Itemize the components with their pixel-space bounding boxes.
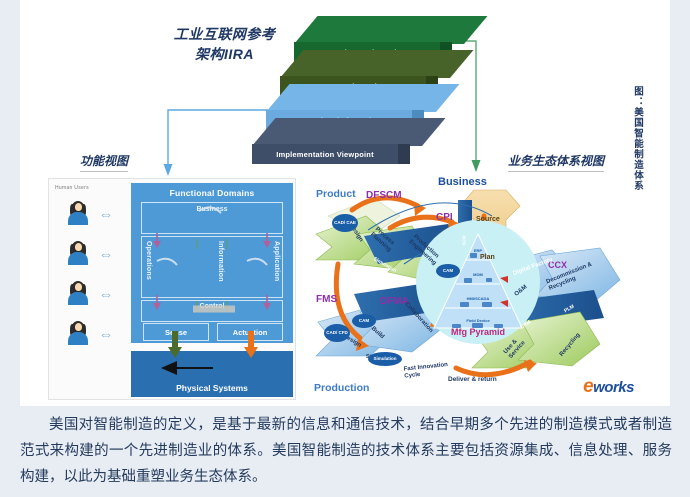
functional-domains-box: Functional Domains Business Operations I… [131, 183, 293, 343]
svg-text:MOM: MOM [473, 272, 483, 277]
label-fms: FMS [316, 294, 337, 305]
svg-text:Field Device: Field Device [466, 318, 490, 323]
domain-flow-arrows-icon [131, 183, 293, 343]
bidirectional-arrow-icon: ⇔ [94, 289, 118, 301]
pill-cad-cae: CAD/ CAE [332, 214, 358, 232]
caption-business-ecosystem-view: 业务生态体系视图 [508, 152, 604, 172]
label-production: Production [314, 382, 369, 394]
human-users-label: Human Users [55, 185, 89, 191]
label-scm: SCM [462, 236, 467, 246]
pill-label: Simulation [373, 357, 396, 362]
bidirectional-arrow-icon: ⇔ [94, 209, 118, 221]
physical-systems-box: Physical Systems [131, 351, 293, 397]
label-deliver-return: Deliver & return [448, 376, 497, 383]
figure-canvas: 工业互联网参考 架构IIRA Business Viewpoint Usage … [20, 0, 670, 406]
layer-top-face [266, 84, 459, 112]
person-icon [67, 321, 89, 345]
bidirectional-arrow-icon: ⇔ [94, 249, 118, 261]
pill-cam-2: CAM [352, 314, 376, 328]
label-source: Source [476, 216, 500, 223]
caption-functional-view: 功能视图 [80, 152, 128, 172]
label-product: Product [316, 188, 356, 200]
layer-implementation-viewpoint[interactable]: Implementation Viewpoint [252, 118, 422, 164]
pill-cam-1: CAM [436, 264, 460, 278]
pill-cad-cfd: CAD/ CFD [324, 324, 350, 342]
label-dfscm: DFSCM [366, 190, 402, 201]
pill-label: CAD/ CAE [334, 221, 356, 226]
body-paragraph: 美国对智能制造的定义，是基于最新的信息和通信技术，结合早期多个先进的制造模式或者… [20, 412, 672, 490]
svg-text:ERP: ERP [474, 248, 483, 253]
iira-stack: Business Viewpoint Usage Viewpoint Funct… [252, 16, 452, 166]
layer-top-face [252, 118, 445, 146]
layer-label: Implementation Viewpoint [252, 144, 398, 164]
business-ecosystem-panel: ERP MOM HMI/SCADA Field Device [308, 172, 638, 400]
label-cpi: CPI [436, 212, 453, 223]
pill-label: CAD/ CFD [326, 331, 348, 336]
actuation-arrow-icon [243, 331, 259, 359]
layer-top-face [294, 16, 487, 44]
pill-label: CAM [443, 269, 453, 274]
label-business: Business [438, 176, 487, 188]
sense-arrow-icon [167, 331, 183, 359]
physical-systems-label: Physical Systems [131, 383, 293, 393]
eworks-e: e [583, 376, 593, 397]
black-arrow-icon [155, 357, 215, 377]
bidirectional-arrow-icon: ⇔ [94, 329, 118, 341]
pill-simulation: Simulation [368, 352, 402, 366]
eworks-word: works [593, 379, 634, 396]
figure-vertical-caption: 图：美国智能制造体系 [630, 86, 644, 191]
layer-top-face [280, 50, 473, 78]
functional-view-panel: Human Users ⇔ ⇔ ⇔ ⇔ Function [48, 178, 296, 400]
label-plan: Plan [480, 254, 495, 261]
svg-text:HMI/SCADA: HMI/SCADA [467, 296, 490, 301]
layer-side-face [398, 144, 410, 164]
page-root: 工业互联网参考 架构IIRA Business Viewpoint Usage … [0, 0, 690, 497]
person-icon [67, 281, 89, 305]
eworks-watermark: eworks [583, 376, 634, 398]
person-icon [67, 241, 89, 265]
pill-label: CAM [359, 319, 369, 324]
person-icon [67, 201, 89, 225]
